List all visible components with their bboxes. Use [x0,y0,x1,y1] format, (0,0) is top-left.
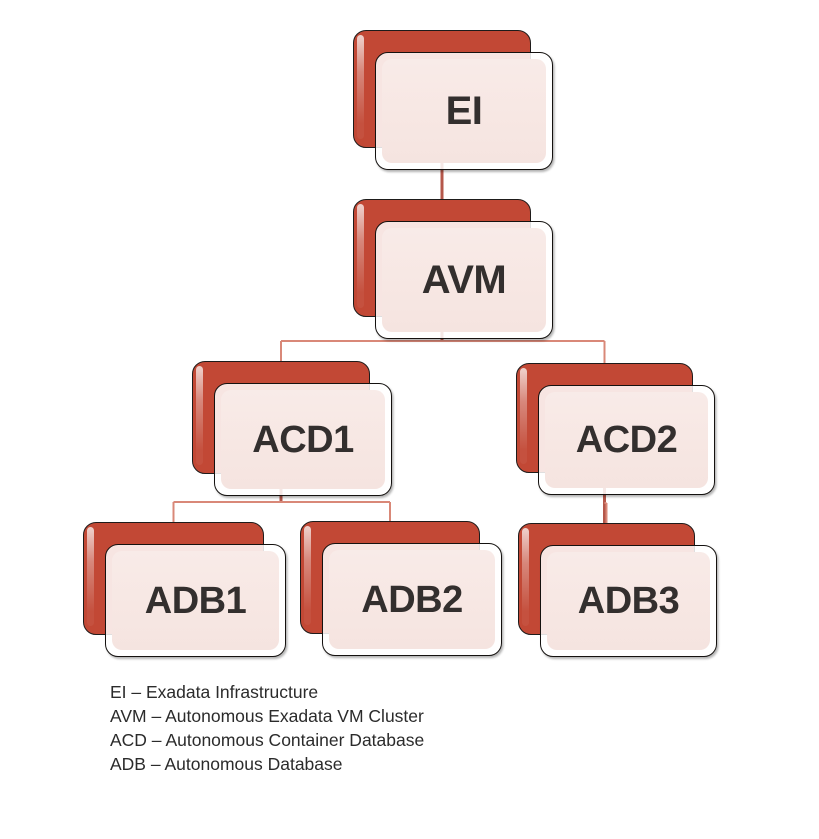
node-adb2-label: ADB2 [361,581,462,619]
diagram-canvas: EIAVMACD1ACD2ADB1ADB2ADB3 EI – Exadata I… [0,0,819,839]
node-adb1-front-plate: ADB1 [105,544,286,657]
node-adb3-front-plate: ADB3 [540,545,717,657]
legend-item-acd: ACD – Autonomous Container Database [110,728,424,752]
node-acd1-front-plate: ACD1 [214,383,392,496]
node-adb3[interactable]: ADB3 [518,523,717,657]
node-avm[interactable]: AVM [353,199,553,339]
legend: EI – Exadata Infrastructure AVM – Autono… [110,680,424,776]
node-adb1-label: ADB1 [145,582,246,620]
node-adb3-label: ADB3 [578,582,679,620]
node-ei-front-plate: EI [375,52,553,170]
node-acd2[interactable]: ACD2 [516,363,715,495]
node-avm-front-plate: AVM [375,221,553,339]
legend-item-ei: EI – Exadata Infrastructure [110,680,424,704]
node-acd2-front-plate: ACD2 [538,385,715,495]
node-adb1[interactable]: ADB1 [83,522,286,657]
legend-item-avm: AVM – Autonomous Exadata VM Cluster [110,704,424,728]
legend-item-adb: ADB – Autonomous Database [110,752,424,776]
node-ei-label: EI [446,91,483,131]
node-adb2-front-plate: ADB2 [322,543,502,656]
node-acd2-label: ACD2 [576,421,677,459]
node-acd1-label: ACD1 [252,421,353,459]
node-adb2[interactable]: ADB2 [300,521,502,656]
node-avm-label: AVM [422,260,506,300]
node-ei[interactable]: EI [353,30,553,170]
node-acd1[interactable]: ACD1 [192,361,392,496]
